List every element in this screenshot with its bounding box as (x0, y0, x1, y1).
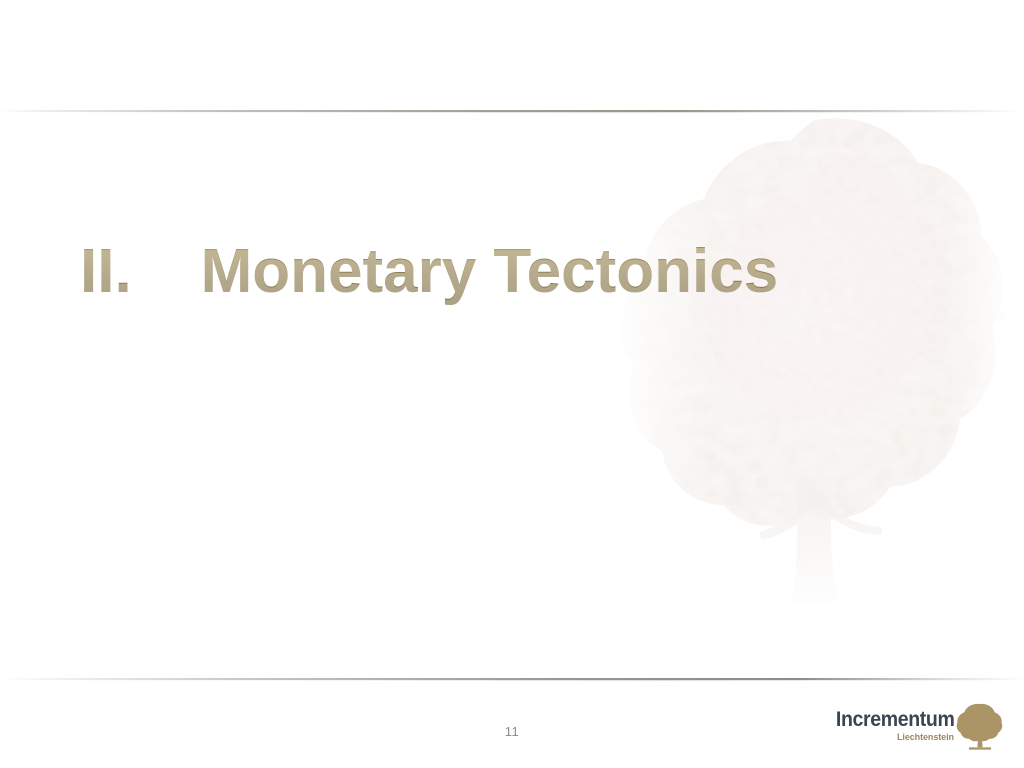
tree-watermark-icon (600, 105, 1024, 645)
slide-canvas: II. Monetary Tectonics 11 Incrementum Li… (0, 0, 1024, 768)
header-divider-rule (0, 110, 1024, 112)
logo-subtitle: Liechtenstein (897, 732, 954, 743)
tree-logo-icon (956, 702, 1004, 752)
logo-wordmark: Incrementum (835, 709, 954, 730)
page-title: II. Monetary Tectonics (80, 236, 940, 308)
logo-textblock: Incrementum Liechtenstein (822, 709, 954, 743)
footer-divider-rule (0, 678, 1024, 680)
company-logo: Incrementum Liechtenstein (822, 698, 1012, 754)
